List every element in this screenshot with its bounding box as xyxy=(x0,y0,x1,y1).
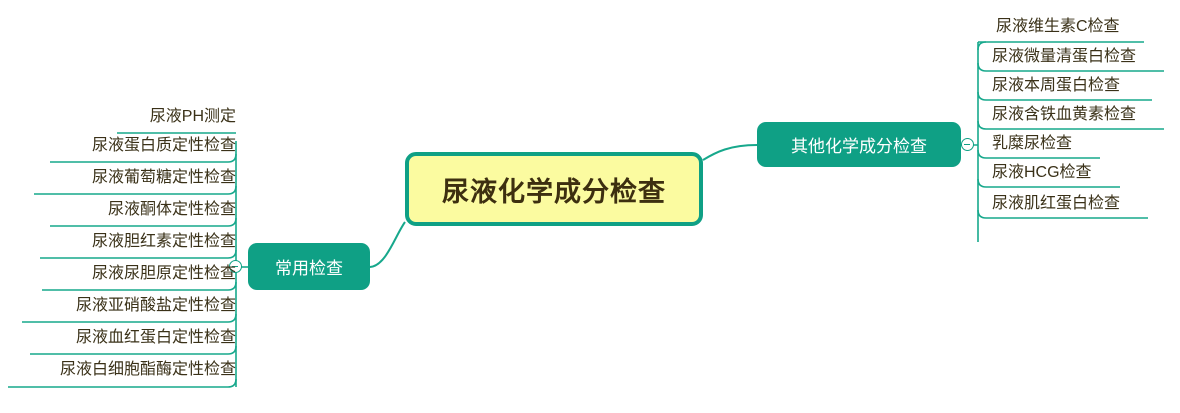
leaf-node-right-1[interactable]: 尿液微量清蛋白检查 xyxy=(992,44,1180,70)
leaf-node-left-1[interactable]: 尿液蛋白质定性检查 xyxy=(8,133,236,159)
root-node-label: 尿液化学成分检查 xyxy=(442,170,666,209)
leaf-node-left-8[interactable]: 尿液白细胞酯酶定性检查 xyxy=(4,357,236,383)
connector-root-to-other xyxy=(703,145,757,160)
leaf-node-left-0[interactable]: 尿液PH测定 xyxy=(8,104,236,130)
branch-node-other-chemical-tests[interactable]: 其他化学成分检查 xyxy=(757,122,961,167)
root-node[interactable]: 尿液化学成分检查 xyxy=(405,152,703,226)
leaf-node-left-2[interactable]: 尿液葡萄糖定性检查 xyxy=(8,165,236,191)
right-trunk-top-elbow xyxy=(978,42,986,50)
branch-node-common-tests-label: 常用检查 xyxy=(275,254,343,279)
leaf-node-left-3[interactable]: 尿液酮体定性检查 xyxy=(8,197,236,223)
leaf-node-right-3[interactable]: 尿液含铁血黄素检查 xyxy=(992,102,1180,128)
leaf-node-left-7[interactable]: 尿液血红蛋白定性检查 xyxy=(8,325,236,351)
leaf-node-left-5[interactable]: 尿液尿胆原定性检查 xyxy=(8,261,236,287)
leaf-node-right-2[interactable]: 尿液本周蛋白检查 xyxy=(992,73,1180,99)
connector-root-to-common xyxy=(370,222,405,267)
branch-node-other-chemical-tests-label: 其他化学成分检查 xyxy=(791,132,927,157)
leaf-node-left-6[interactable]: 尿液亚硝酸盐定性检查 xyxy=(8,293,236,319)
branch-node-common-tests[interactable]: 常用检查 xyxy=(248,243,370,290)
leaf-node-right-4[interactable]: 乳糜尿检查 xyxy=(992,131,1180,157)
mind-map-canvas: 尿液化学成分检查 常用检查 其他化学成分检查 尿液PH测定 尿液蛋白质定性检查 … xyxy=(0,0,1180,413)
collapse-toggle-icon-other-chemical-tests[interactable] xyxy=(961,138,974,151)
leaf-node-right-5[interactable]: 尿液HCG检查 xyxy=(992,160,1180,186)
leaf-node-left-4[interactable]: 尿液胆红素定性检查 xyxy=(8,229,236,255)
leaf-node-right-6[interactable]: 尿液肌红蛋白检查 xyxy=(992,191,1180,217)
leaf-node-right-0[interactable]: 尿液维生素C检查 xyxy=(996,14,1180,40)
